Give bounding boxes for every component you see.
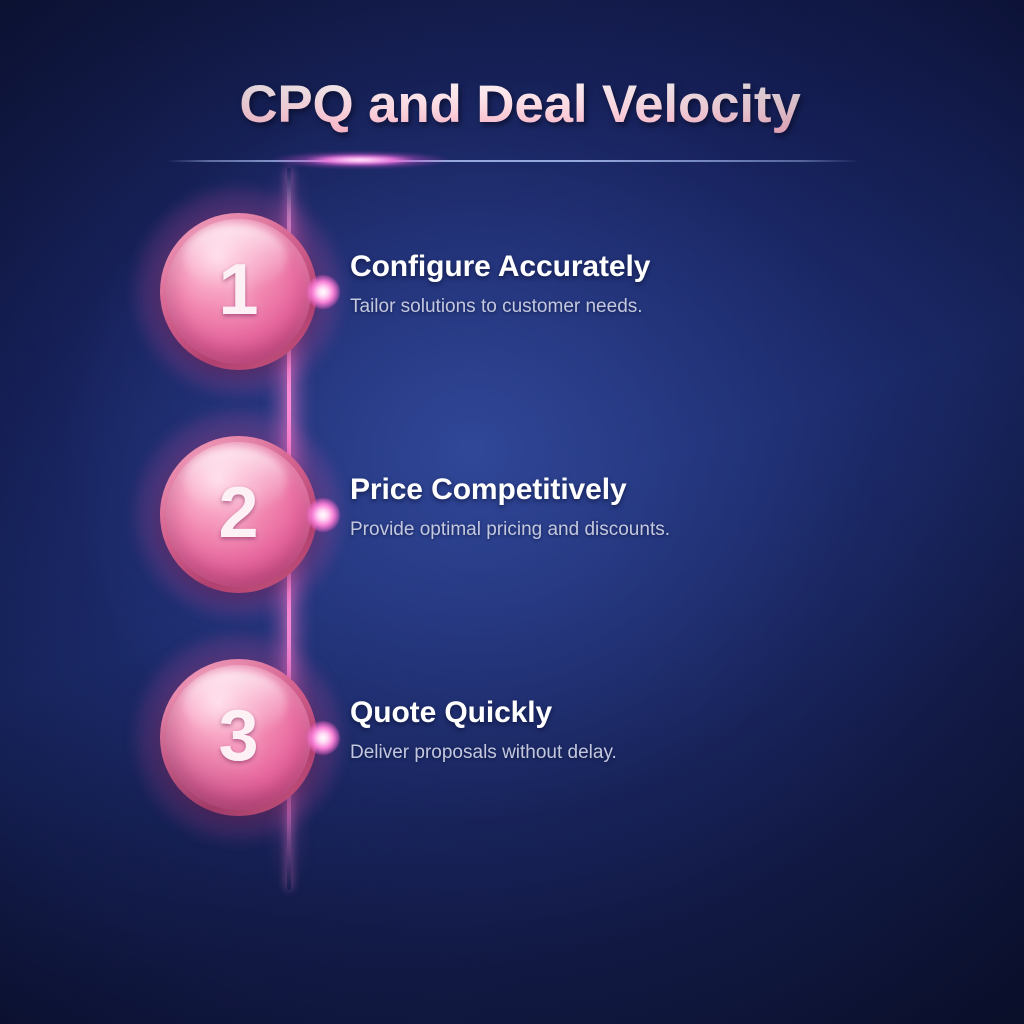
step-badge-1[interactable]: 1 <box>160 213 317 370</box>
connector-node-spark-icon <box>306 721 340 755</box>
step-badge-3[interactable]: 3 <box>160 659 317 816</box>
step-description: Deliver proposals without delay. <box>350 740 950 765</box>
page-title: CPQ and Deal Velocity <box>170 68 870 142</box>
step-description: Provide optimal pricing and discounts. <box>350 517 950 542</box>
step-text-block: Price Competitively Provide optimal pric… <box>350 472 950 542</box>
step-text-block: Quote Quickly Deliver proposals without … <box>350 695 950 765</box>
step-item-1[interactable]: 1 Configure Accurately Tailor solutions … <box>0 213 1024 373</box>
step-badge-2[interactable]: 2 <box>160 436 317 593</box>
step-item-2[interactable]: 2 Price Competitively Provide optimal pr… <box>0 436 1024 596</box>
step-heading: Price Competitively <box>350 472 950 508</box>
title-divider <box>168 158 856 164</box>
connector-node-spark-icon <box>306 275 340 309</box>
step-number: 1 <box>160 213 317 370</box>
step-item-3[interactable]: 3 Quote Quickly Deliver proposals withou… <box>0 659 1024 819</box>
step-number: 2 <box>160 436 317 593</box>
connector-node-spark-icon <box>306 498 340 532</box>
step-number: 3 <box>160 659 317 816</box>
step-description: Tailor solutions to customer needs. <box>350 294 950 319</box>
title-block: CPQ and Deal Velocity <box>170 68 870 148</box>
step-heading: Configure Accurately <box>350 249 950 285</box>
step-heading: Quote Quickly <box>350 695 950 731</box>
step-text-block: Configure Accurately Tailor solutions to… <box>350 249 950 319</box>
infographic-canvas: CPQ and Deal Velocity 1 Configure Accura… <box>0 0 1024 1024</box>
